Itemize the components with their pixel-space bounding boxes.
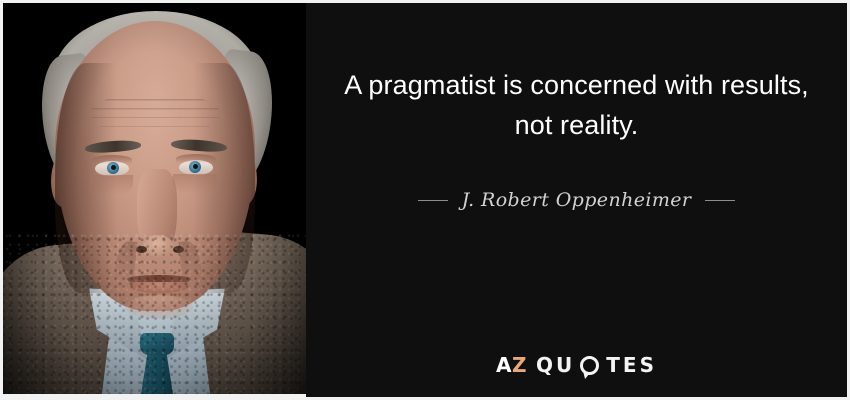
photo-bottom-edge [3, 394, 306, 397]
attribution: J. Robert Oppenheimer [306, 189, 847, 211]
photo-vignette [3, 3, 306, 397]
logo-az-wordmark: AZ [496, 355, 527, 375]
attribution-rule-right [705, 200, 735, 201]
portrait-photo [3, 3, 306, 397]
attribution-rule-left [418, 200, 448, 201]
logo-quotes-suffix: TES [606, 355, 657, 375]
logo-letter-z: Z [512, 353, 527, 377]
logo-quotes-wordmark: QU TES [536, 355, 657, 375]
author-name: J. Robert Oppenheimer [462, 189, 692, 211]
quote-card: A pragmatist is concerned with results, … [0, 0, 850, 400]
author-portrait [3, 3, 306, 397]
quote-text-panel: A pragmatist is concerned with results, … [306, 3, 847, 397]
quote-text: A pragmatist is concerned with results, … [330, 65, 823, 145]
logo-letter-a: A [496, 353, 512, 377]
speech-bubble-icon [580, 356, 599, 375]
azquotes-logo[interactable]: AZ QU TES [306, 355, 847, 375]
logo-quotes-prefix: QU [536, 355, 575, 375]
